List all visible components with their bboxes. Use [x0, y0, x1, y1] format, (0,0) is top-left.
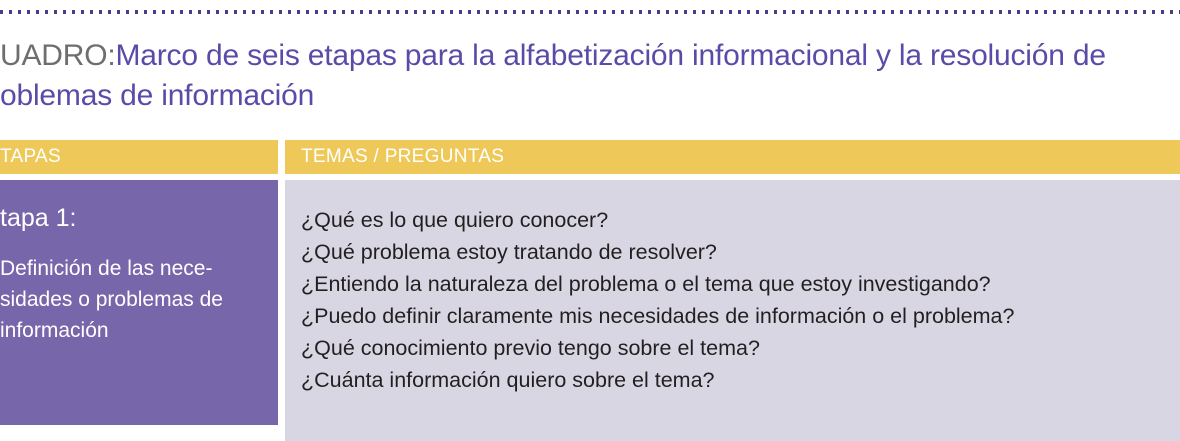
- page-title: UADRO:Marco de seis etapas para la alfab…: [0, 36, 1180, 116]
- column-header-etapas: TAPAS: [0, 140, 278, 174]
- stage-title: tapa 1:: [0, 202, 264, 235]
- list-item: ¿Cuánta información quiero sobre el tema…: [301, 364, 1180, 396]
- stage-description-line: información: [0, 315, 264, 346]
- table-header-row: TAPAS TEMAS / PREGUNTAS: [0, 140, 1180, 174]
- stage-description-line: sidades o problemas de: [0, 284, 264, 315]
- title-label: UADRO:: [0, 39, 115, 72]
- list-item: ¿Qué problema estoy tratando de resolver…: [301, 236, 1180, 268]
- column-header-etapas-label: TAPAS: [0, 146, 61, 167]
- framework-table: TAPAS TEMAS / PREGUNTAS tapa 1: Definici…: [0, 140, 1180, 441]
- list-item: ¿Puedo definir claramente mis necesidade…: [301, 300, 1180, 332]
- title-line-1: UADRO:Marco de seis etapas para la alfab…: [0, 36, 1180, 76]
- title-main-text: Marco de seis etapas para la alfabetizac…: [115, 39, 1105, 72]
- table-row: tapa 1: Definición de las nece- sidades …: [0, 180, 1180, 441]
- dotted-rule-divider: [0, 10, 1180, 14]
- column-header-temas-label: TEMAS / PREGUNTAS: [301, 146, 504, 167]
- column-header-temas-preguntas: TEMAS / PREGUNTAS: [285, 140, 1180, 174]
- list-item: ¿Qué conocimiento previo tengo sobre el …: [301, 332, 1180, 364]
- questions-cell: ¿Qué es lo que quiero conocer? ¿Qué prob…: [285, 180, 1180, 441]
- title-line-2: oblemas de información: [0, 76, 1180, 116]
- list-item: ¿Qué es lo que quiero conocer?: [301, 204, 1180, 236]
- stage-cell: tapa 1: Definición de las nece- sidades …: [0, 180, 278, 425]
- stage-description-line: Definición de las nece-: [0, 253, 264, 284]
- stage-description: Definición de las nece- sidades o proble…: [0, 253, 264, 346]
- list-item: ¿Entiendo la naturaleza del problema o e…: [301, 268, 1180, 300]
